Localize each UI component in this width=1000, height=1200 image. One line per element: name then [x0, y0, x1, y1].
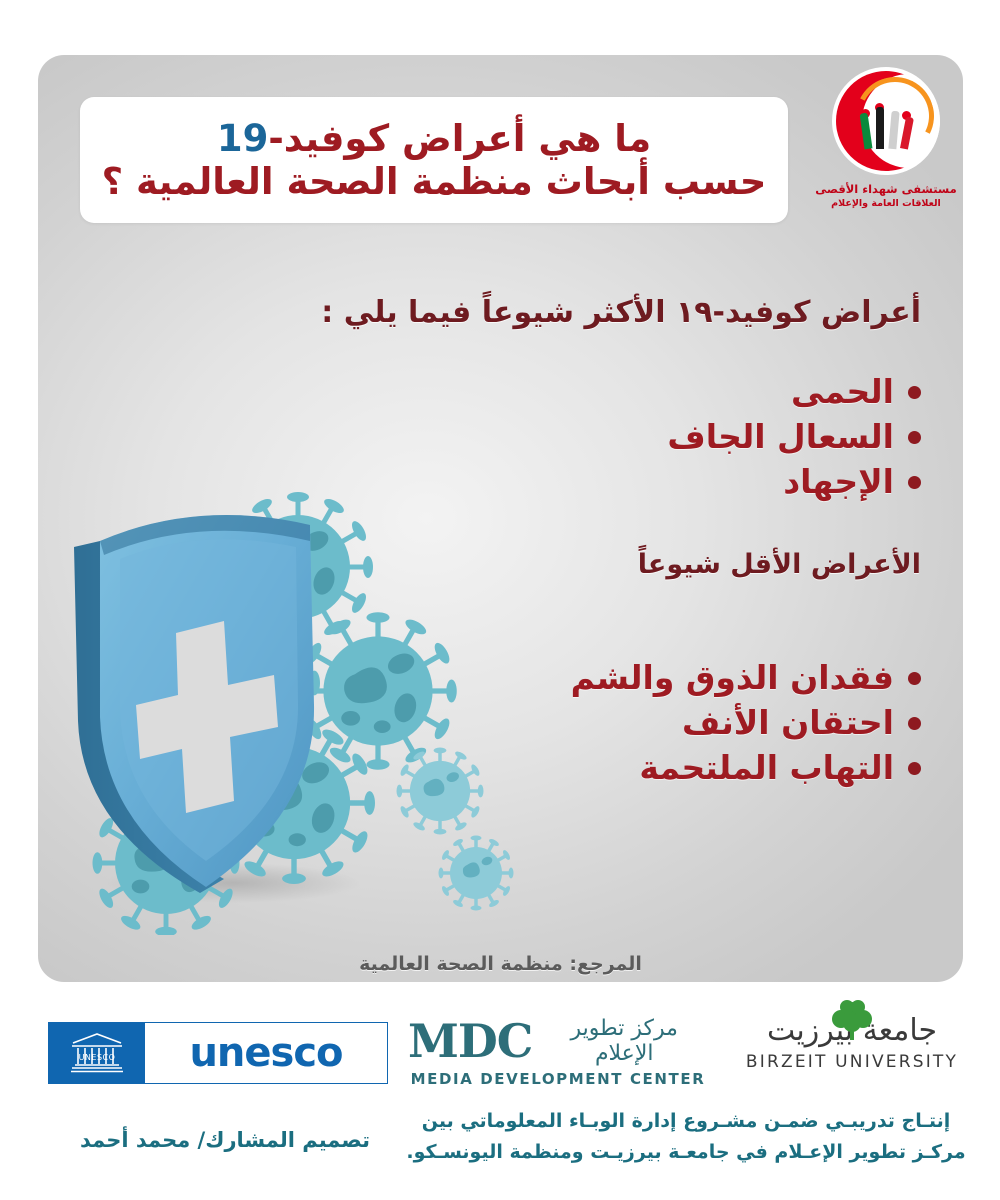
birzeit-arabic-name: جامعة بيرزيت: [722, 1012, 982, 1050]
common-symptoms-list: الحمى السعال الجاف الإجهاد: [667, 373, 921, 502]
list-item: الحمى: [667, 373, 921, 412]
bullet-icon: [908, 717, 921, 730]
birzeit-english-name: BIRZEIT UNIVERSITY: [722, 1052, 982, 1072]
olive-tree-icon: [826, 1000, 878, 1052]
common-symptoms-heading: أعراض كوفيد-١٩ الأكثر شيوعاً فيما يلي :: [321, 295, 921, 330]
symptom-label: احتقان الأنف: [682, 704, 894, 743]
title-text-primary: ما هي أعراض كوفيد-: [268, 117, 651, 160]
bullet-icon: [908, 431, 921, 444]
people-figures-icon: [860, 101, 916, 149]
virus-particle: [439, 836, 514, 911]
list-item: السعال الجاف: [667, 418, 921, 457]
main-panel: ما هي أعراض كوفيد-19 حسب أبحاث منظمة الص…: [38, 55, 963, 982]
unesco-temple-icon: UNESCO: [49, 1023, 145, 1083]
figure-red: [900, 117, 914, 150]
symptom-label: الحمى: [791, 373, 894, 412]
list-item: فقدان الذوق والشم: [571, 659, 921, 698]
symptom-label: فقدان الذوق والشم: [571, 659, 894, 698]
unesco-wordmark: unesco: [145, 1023, 387, 1083]
title-covid-number: 19: [217, 117, 269, 160]
shield-and-virus-illustration: [48, 455, 528, 935]
mdc-logo: MDC مركز تطوير الإعلام MEDIA DEVELOPMENT…: [408, 1016, 708, 1092]
mdc-initials: MDC: [408, 1018, 532, 1064]
figure-black: [876, 107, 884, 149]
designer-credit: تصميم المشارك/ محمد أحمد: [60, 1128, 390, 1152]
partner-logos: UNESCO unesco MDC مركز تطوير الإعلام MED…: [0, 1008, 1000, 1103]
symptom-label: التهاب الملتحمة: [639, 749, 894, 788]
hospital-name: مستشفى شهداء الأقصى: [815, 182, 957, 198]
list-item: الإجهاد: [667, 463, 921, 502]
svg-text:UNESCO: UNESCO: [79, 1053, 116, 1062]
title-box: ما هي أعراض كوفيد-19 حسب أبحاث منظمة الص…: [80, 97, 788, 223]
less-common-symptoms-heading: الأعراض الأقل شيوعاً: [638, 549, 921, 580]
figure-white: [888, 111, 899, 150]
bullet-icon: [908, 672, 921, 685]
red-crescent-icon: [832, 67, 940, 175]
bullet-icon: [908, 476, 921, 489]
symptom-label: الإجهاد: [783, 463, 894, 502]
mdc-english-name: MEDIA DEVELOPMENT CENTER: [408, 1070, 708, 1088]
mdc-arabic-name: مركز تطوير الإعلام: [540, 1016, 708, 1066]
list-item: احتقان الأنف: [571, 704, 921, 743]
project-note: إنتـاج تدريبـي ضمـن مشـروع إدارة الوبـاء…: [386, 1106, 986, 1168]
title-line-2: حسب أبحاث منظمة الصحة العالمية ؟: [102, 161, 767, 202]
infographic-poster: ما هي أعراض كوفيد-19 حسب أبحاث منظمة الص…: [0, 0, 1000, 1200]
mdc-top-row: MDC مركز تطوير الإعلام: [408, 1016, 708, 1066]
title-line-1: ما هي أعراض كوفيد-19: [217, 118, 651, 159]
birzeit-logo: جامعة بيرزيت BIRZEIT UNIVERSITY: [722, 1012, 982, 1096]
unesco-logo: UNESCO unesco: [48, 1022, 388, 1084]
hospital-department: العلاقات العامة والإعلام: [831, 198, 941, 209]
bullet-icon: [908, 762, 921, 775]
less-common-symptoms-list: فقدان الذوق والشم احتقان الأنف التهاب ال…: [571, 659, 921, 788]
project-note-line-1: إنتـاج تدريبـي ضمـن مشـروع إدارة الوبـاء…: [386, 1106, 986, 1137]
list-item: التهاب الملتحمة: [571, 749, 921, 788]
virus-particle: [299, 612, 457, 770]
figure-green: [860, 113, 873, 150]
reference-note: المرجع: منظمة الصحة العالمية: [38, 953, 963, 975]
project-note-line-2: مركـز تطوير الإعـلام في جامعـة بيرزيـت و…: [386, 1137, 986, 1168]
symptom-label: السعال الجاف: [667, 418, 894, 457]
hospital-logo: مستشفى شهداء الأقصى العلاقات العامة والإ…: [816, 67, 956, 209]
bullet-icon: [908, 386, 921, 399]
